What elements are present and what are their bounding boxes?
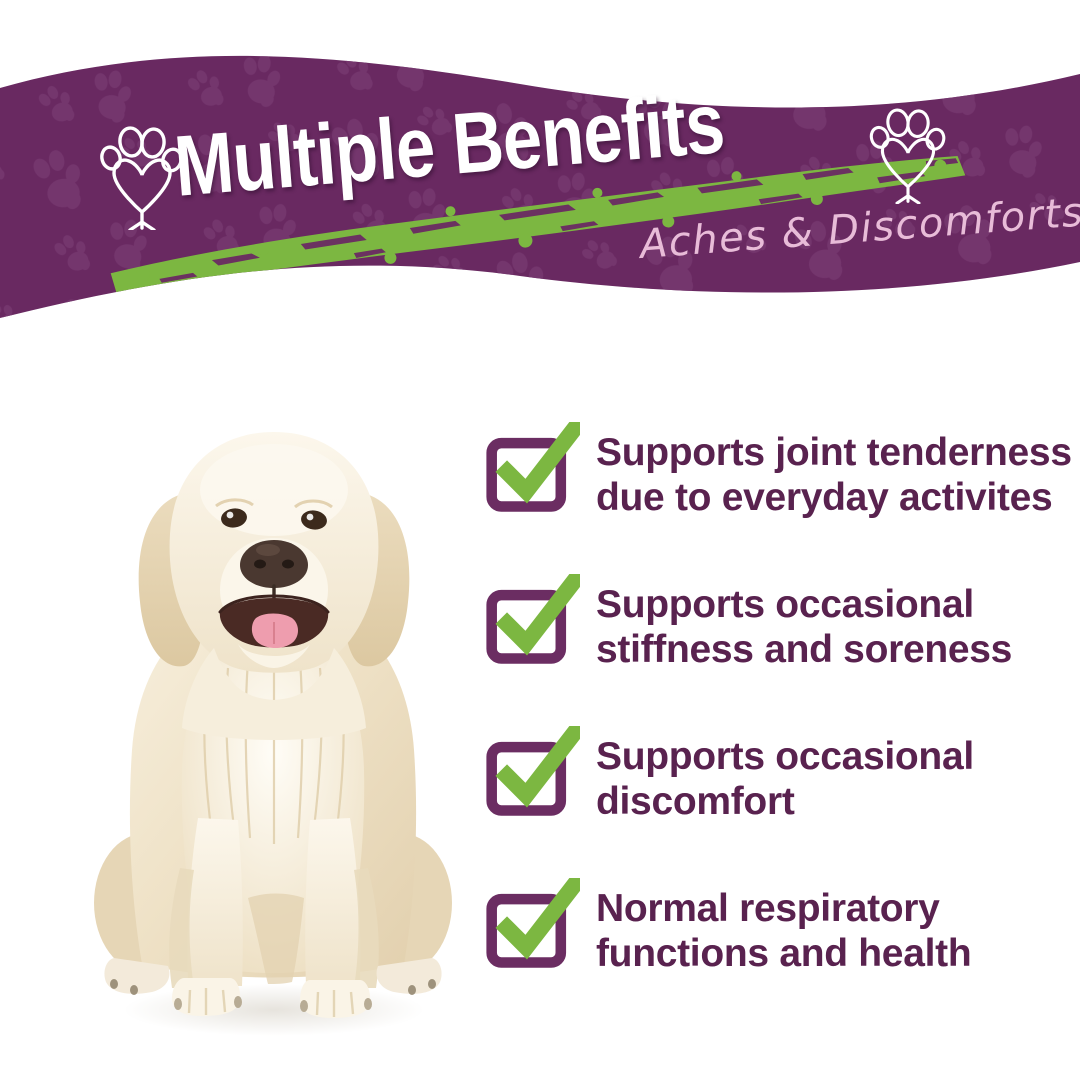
paw-heart-icon <box>866 100 950 204</box>
benefit-line: Supports occasional <box>596 734 974 779</box>
benefits-list: Supports joint tenderness due to everyda… <box>484 418 1064 986</box>
check-icon <box>484 726 580 822</box>
benefit-item-joint-tenderness: Supports joint tenderness due to everyda… <box>484 418 1064 530</box>
benefit-item-stiffness-soreness: Supports occasional stiffness and sorene… <box>484 570 1064 682</box>
benefit-label: Supports occasional discomfort <box>596 722 974 824</box>
benefit-item-respiratory-health: Normal respiratory functions and health <box>484 874 1064 986</box>
benefit-label: Supports occasional stiffness and sorene… <box>596 570 1012 672</box>
benefit-line: discomfort <box>596 779 974 824</box>
poster-canvas: Multiple Benefits Aches & Discomforts <box>0 0 1080 1080</box>
benefit-line: due to everyday activites <box>596 475 1072 520</box>
header-banner: Multiple Benefits Aches & Discomforts <box>0 0 1080 345</box>
check-icon <box>484 878 580 974</box>
dog-photo <box>78 398 468 1046</box>
benefit-line: Supports occasional <box>596 582 1012 627</box>
benefit-label: Normal respiratory functions and health <box>596 874 971 976</box>
check-icon <box>484 422 580 518</box>
benefit-label: Supports joint tenderness due to everyda… <box>596 418 1072 520</box>
benefit-line: stiffness and soreness <box>596 627 1012 672</box>
check-icon <box>484 574 580 670</box>
benefit-item-occasional-discomfort: Supports occasional discomfort <box>484 722 1064 834</box>
benefit-line: functions and health <box>596 931 971 976</box>
benefit-line: Supports joint tenderness <box>596 430 1072 475</box>
benefit-line: Normal respiratory <box>596 886 971 931</box>
